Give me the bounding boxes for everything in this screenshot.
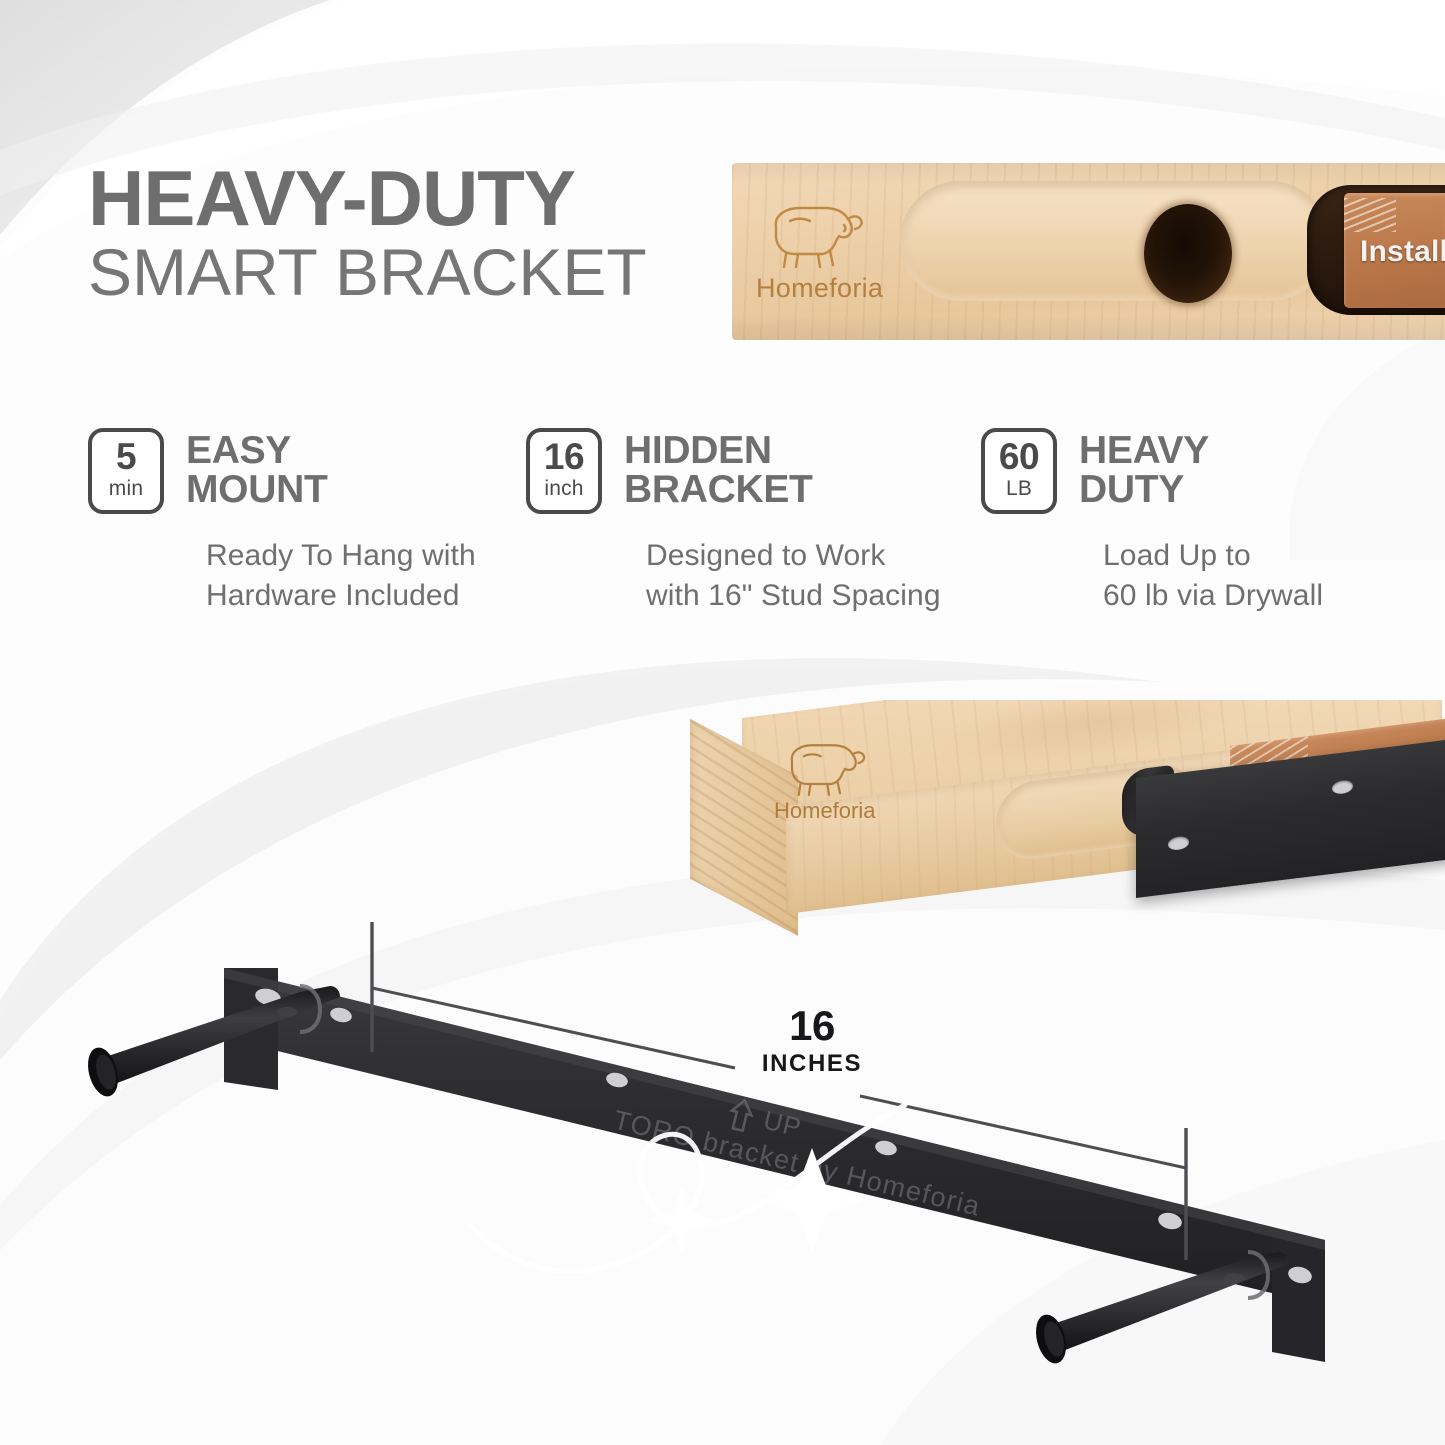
feature-hidden-bracket: 16 inch HIDDEN BRACKET Designed to Work … bbox=[526, 428, 981, 615]
brand-name-top: Homeforia bbox=[756, 273, 883, 304]
shelf-underside-photo: Installa Homeforia bbox=[732, 163, 1445, 340]
infographic-canvas: HEAVY-DUTY SMART BRACKET Installa Ho bbox=[0, 0, 1445, 1445]
hardware-box: Installa bbox=[1344, 193, 1445, 308]
feature-header: 5 min EASY MOUNT bbox=[88, 428, 526, 514]
brand-engraving-top: Homeforia bbox=[760, 197, 890, 307]
badge-5-min: 5 min bbox=[88, 428, 164, 514]
shelf-bracket-product: TORO bracket by Homeforia UP bbox=[0, 860, 1445, 1445]
badge-60-lb: 60 LB bbox=[981, 428, 1057, 514]
feature-title-line-2: DUTY bbox=[1079, 470, 1209, 509]
feature-header: 60 LB HEAVY DUTY bbox=[981, 428, 1371, 514]
feature-title-line-2: MOUNT bbox=[186, 470, 327, 509]
feature-desc-line-1: Designed to Work bbox=[646, 536, 981, 576]
brand-name-mid: Homeforia bbox=[774, 798, 875, 824]
headline-line-1: HEAVY-DUTY bbox=[88, 160, 748, 236]
feature-title-line-1: HEAVY bbox=[1079, 431, 1209, 470]
badge-16-inch: 16 inch bbox=[526, 428, 602, 514]
feature-desc-line-1: Ready To Hang with bbox=[206, 536, 526, 576]
page-title: HEAVY-DUTY SMART BRACKET bbox=[88, 160, 748, 310]
drill-hole bbox=[1144, 204, 1232, 303]
feature-desc-line-2: with 16" Stud Spacing bbox=[646, 576, 981, 616]
feature-title: HIDDEN BRACKET bbox=[624, 428, 813, 509]
box-tape bbox=[1344, 198, 1396, 232]
feature-title: EASY MOUNT bbox=[186, 428, 327, 509]
feature-header: 16 inch HIDDEN BRACKET bbox=[526, 428, 981, 514]
feature-title-line-2: BRACKET bbox=[624, 470, 813, 509]
feature-desc-line-2: 60 lb via Drywall bbox=[1103, 576, 1371, 616]
feature-easy-mount: 5 min EASY MOUNT Ready To Hang with Hard… bbox=[88, 428, 526, 615]
bison-logo-icon bbox=[778, 736, 870, 800]
feature-list: 5 min EASY MOUNT Ready To Hang with Hard… bbox=[88, 428, 1378, 615]
mounting-hole bbox=[1168, 835, 1189, 851]
routed-channel bbox=[900, 181, 1330, 301]
feature-desc-line-1: Load Up to bbox=[1103, 536, 1371, 576]
dimension-unit: INCHES bbox=[742, 1050, 882, 1078]
badge-unit: min bbox=[109, 476, 143, 502]
feature-title: HEAVY DUTY bbox=[1079, 428, 1209, 509]
feature-description: Load Up to 60 lb via Drywall bbox=[1103, 536, 1371, 615]
badge-unit: LB bbox=[1006, 476, 1032, 502]
feature-description: Ready To Hang with Hardware Included bbox=[206, 536, 526, 615]
badge-unit: inch bbox=[544, 476, 583, 502]
headline-line-2: SMART BRACKET bbox=[88, 236, 748, 310]
feature-description: Designed to Work with 16" Stud Spacing bbox=[646, 536, 981, 615]
badge-number: 60 bbox=[999, 439, 1039, 474]
dimension-value: 16 bbox=[742, 1005, 882, 1047]
box-label-text: Installa bbox=[1360, 235, 1445, 269]
bison-logo-icon bbox=[760, 197, 868, 273]
mounting-hole bbox=[1332, 779, 1353, 795]
dimension-label: 16 INCHES bbox=[742, 1005, 882, 1078]
bracket-rod-right bbox=[1031, 1252, 1288, 1367]
badge-number: 16 bbox=[544, 439, 584, 474]
feature-desc-line-2: Hardware Included bbox=[206, 576, 526, 616]
badge-number: 5 bbox=[116, 439, 136, 474]
feature-title-line-1: EASY bbox=[186, 431, 327, 470]
brand-engraving-mid: Homeforia bbox=[778, 736, 894, 826]
feature-title-line-1: HIDDEN bbox=[624, 431, 813, 470]
feature-heavy-duty: 60 LB HEAVY DUTY Load Up to 60 lb via Dr… bbox=[981, 428, 1371, 615]
